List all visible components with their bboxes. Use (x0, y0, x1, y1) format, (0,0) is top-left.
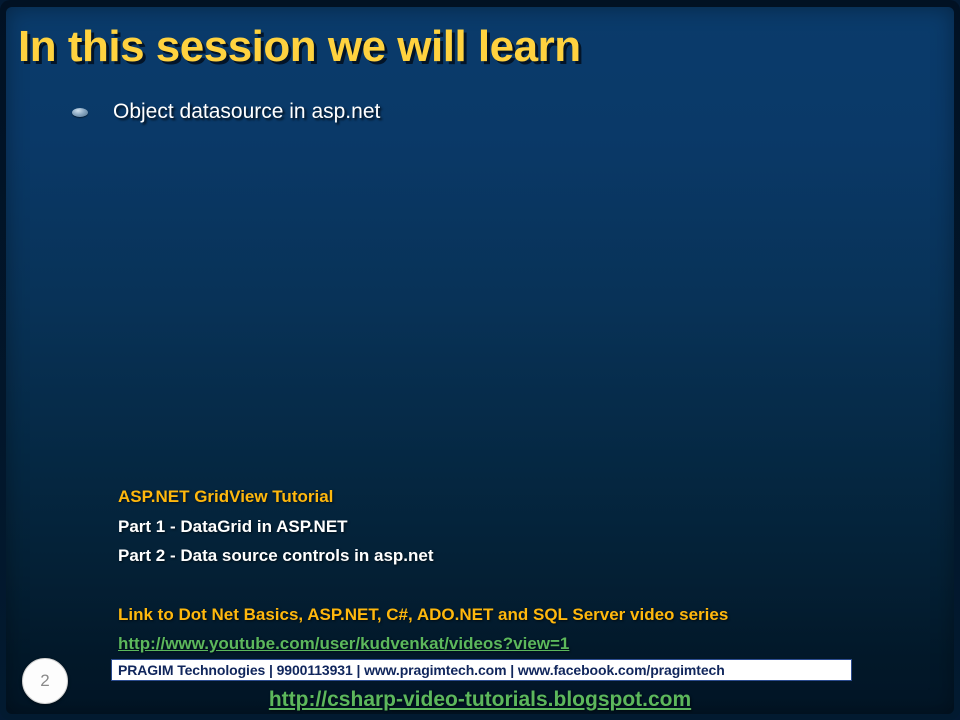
footer-contact-text: PRAGIM Technologies | 9900113931 | www.p… (118, 662, 725, 678)
bullet-list: Object datasource in asp.net (72, 100, 902, 134)
list-item: Object datasource in asp.net (72, 100, 902, 124)
presentation-slide: In this session we will learn Object dat… (0, 0, 960, 720)
blog-link-container: http://csharp-video-tutorials.blogspot.c… (0, 688, 960, 712)
promo-block: ASP.NET GridView Tutorial Part 1 - DataG… (118, 482, 918, 658)
blog-link[interactable]: http://csharp-video-tutorials.blogspot.c… (269, 688, 691, 711)
bullet-disc-icon (72, 108, 88, 117)
slide-number-badge: 2 (22, 658, 68, 704)
promo-heading: ASP.NET GridView Tutorial (118, 482, 918, 512)
promo-spacer (118, 571, 918, 600)
promo-part-2: Part 2 - Data source controls in asp.net (118, 541, 918, 571)
page-title: In this session we will learn (18, 22, 581, 72)
slide-number-label: 2 (40, 671, 49, 691)
footer-contact-bar: PRAGIM Technologies | 9900113931 | www.p… (111, 659, 852, 681)
list-item-label: Object datasource in asp.net (113, 100, 380, 124)
promo-link-intro: Link to Dot Net Basics, ASP.NET, C#, ADO… (118, 600, 918, 630)
promo-part-1: Part 1 - DataGrid in ASP.NET (118, 512, 918, 542)
youtube-playlist-link[interactable]: http://www.youtube.com/user/kudvenkat/vi… (118, 629, 569, 658)
